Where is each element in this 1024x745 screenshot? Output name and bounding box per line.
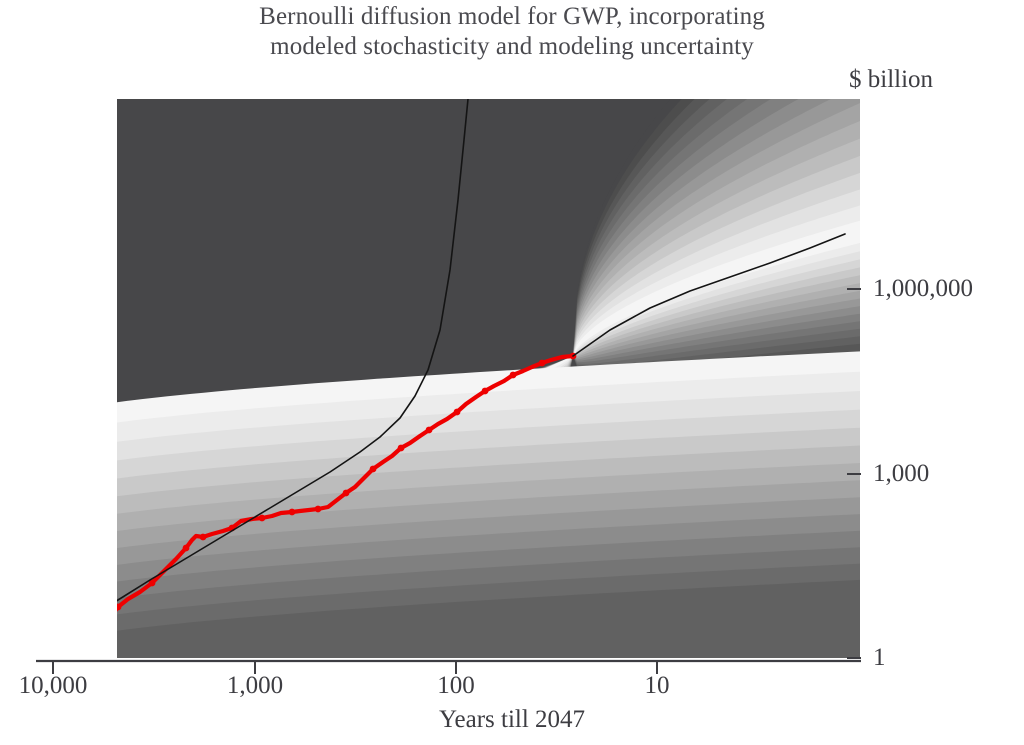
y-axis-unit-label: $ billion bbox=[849, 66, 933, 94]
x-axis-tick-label: 1,000 bbox=[227, 672, 283, 700]
series-marker bbox=[85, 630, 92, 637]
series-marker bbox=[289, 509, 296, 516]
series-marker bbox=[510, 372, 517, 379]
series-marker bbox=[343, 490, 350, 497]
plot-canvas bbox=[0, 0, 1024, 745]
series-marker bbox=[454, 409, 461, 416]
series-marker bbox=[183, 545, 190, 552]
density-bands bbox=[38, 0, 860, 658]
series-marker bbox=[315, 506, 322, 513]
x-axis-tick-label: 10,000 bbox=[19, 672, 88, 700]
x-axis-tick-label: 100 bbox=[437, 672, 475, 700]
series-marker bbox=[200, 534, 207, 541]
series-marker bbox=[398, 445, 405, 452]
x-axis-title: Years till 2047 bbox=[0, 706, 1024, 734]
series-marker bbox=[35, 647, 42, 654]
x-axis-tick-label: 10 bbox=[645, 672, 670, 700]
y-axis-tick-label: 1,000,000 bbox=[873, 275, 973, 303]
y-axis-tick-label: 1 bbox=[873, 644, 886, 672]
chart-figure: Bernoulli diffusion model for GWP, incor… bbox=[0, 0, 1024, 745]
series-marker bbox=[370, 466, 377, 473]
series-marker bbox=[539, 360, 546, 367]
series-marker bbox=[115, 604, 122, 611]
y-axis-tick-label: 1,000 bbox=[873, 460, 929, 488]
series-marker bbox=[482, 388, 489, 395]
series-marker bbox=[426, 427, 433, 434]
series-marker bbox=[259, 515, 266, 522]
